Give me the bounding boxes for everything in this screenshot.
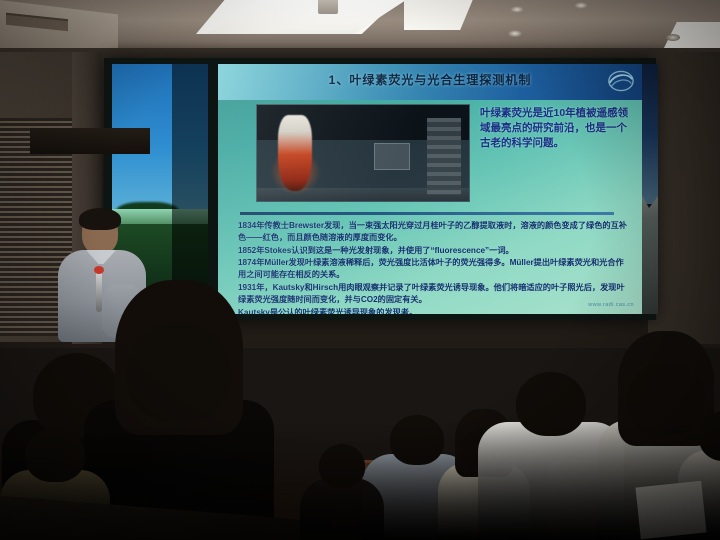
- slide-watermark: www.radi.cas.cn: [588, 302, 634, 308]
- downlight-icon-2: [574, 2, 588, 9]
- photo-equipment-rack: [427, 118, 461, 195]
- slide-body-line-3: 1874年Müller发现叶绿素溶液稀释后，荧光强度比活体叶子的荧光强得多。Mü…: [238, 257, 628, 281]
- slide-body-line-4: 1931年，Kautsky和Hirsch用肉眼观察并记录了叶绿素荧光诱导现象。他…: [238, 282, 628, 306]
- radi-cas-swirl-logo-icon: [607, 68, 635, 94]
- photo-instrument-panel: [374, 143, 410, 170]
- audience-head: [127, 322, 231, 422]
- slide-body-text: 1834年传教士Brewster发现，当一束强太阳光穿过月桂叶子的乙醇提取液时，…: [238, 220, 628, 314]
- slide-title: 1、叶绿素荧光与光合生理探测机制: [218, 71, 642, 88]
- slide-body-line-5: Kautsky是公认的叶绿素荧光诱导现象的发现者。: [238, 307, 628, 314]
- fluorescence-demonstration-photo: [256, 104, 470, 202]
- downlight-icon-1: [510, 6, 524, 13]
- slide-body-line-1: 1834年传教士Brewster发现，当一束强太阳光穿过月桂叶子的乙醇提取液时，…: [238, 220, 628, 244]
- photo-glowing-flask: [278, 115, 312, 192]
- podium: [30, 128, 150, 154]
- downlight-icon-3: [666, 34, 680, 41]
- skylight-panel-3: [404, 0, 476, 30]
- projector-mount: [318, 0, 338, 14]
- seated-audience: [0, 326, 720, 540]
- microphone-indicator-icon: [94, 266, 104, 274]
- downlight-icon-4: [508, 30, 522, 37]
- panel-shadow: [172, 64, 208, 314]
- right-wall: [648, 52, 720, 344]
- presentation-slide: 1、叶绿素荧光与光合生理探测机制 叶绿素荧光是近10年植被遥感领域最亮点的研究前…: [218, 64, 642, 314]
- foreground-shadow: [0, 420, 720, 540]
- slide-body-line-2: 1852年Stokes认识到这是一种光发射现象，并使用了“fluorescenc…: [238, 245, 628, 257]
- presenter-hair: [79, 208, 121, 230]
- slide-side-text: 叶绿素荧光是近10年植被遥感领域最亮点的研究前沿，也是一个古老的科学问题。: [480, 106, 630, 151]
- lecture-hall-scene: 1、叶绿素荧光与光合生理探测机制 叶绿素荧光是近10年植被遥感领域最亮点的研究前…: [0, 0, 720, 540]
- slide-divider: [240, 212, 614, 215]
